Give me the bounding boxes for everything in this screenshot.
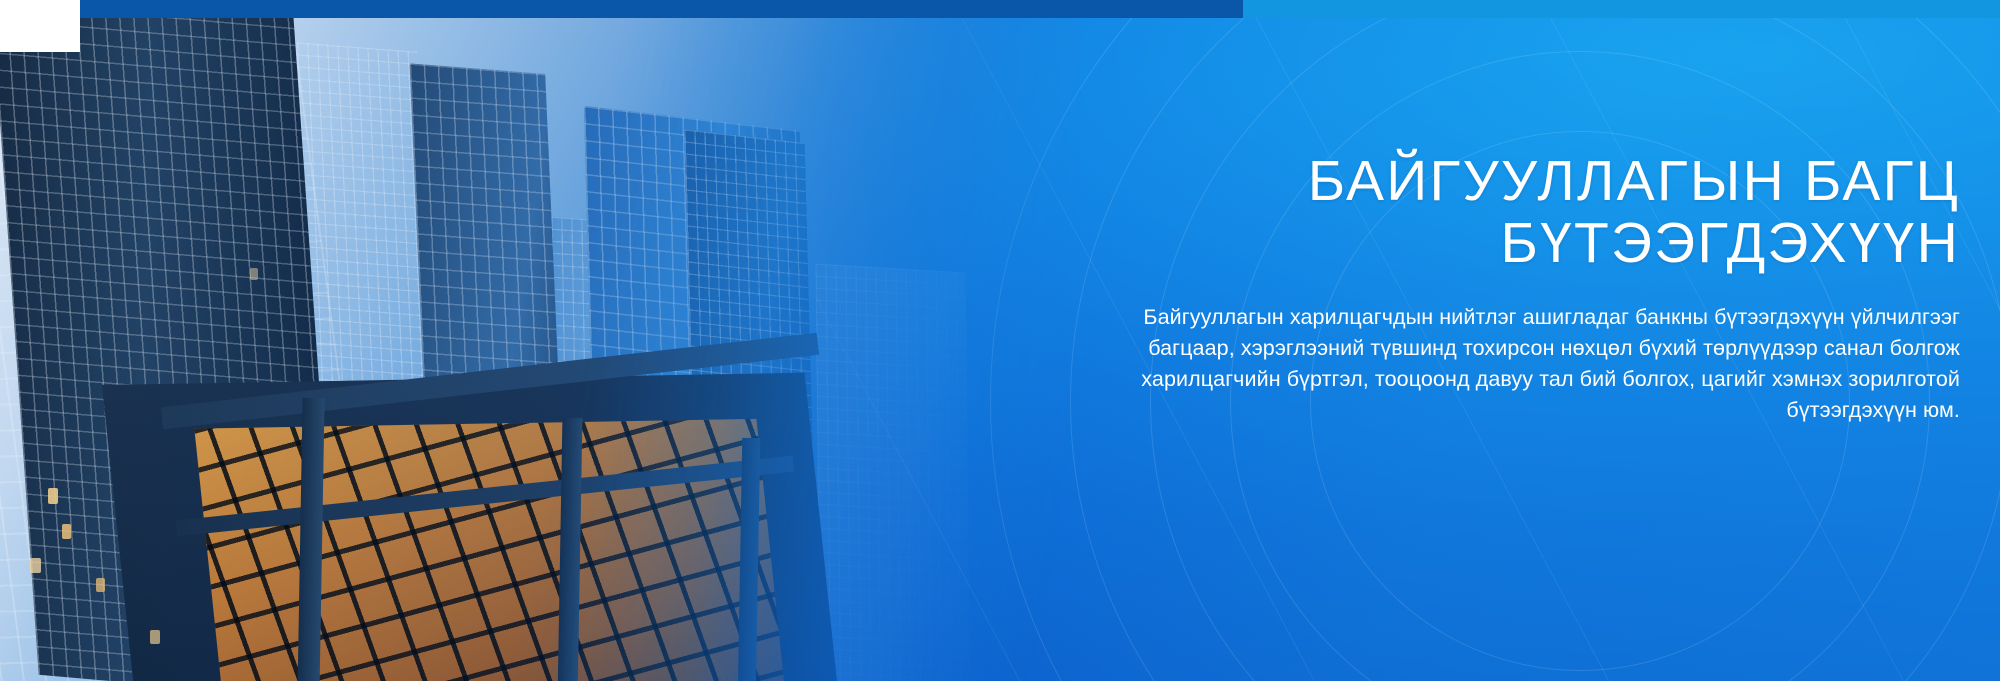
banner-text-block: БАЙГУУЛЛАГЫН БАГЦ БҮТЭЭГДЭХҮҮН Байгуулла… xyxy=(890,150,1960,426)
organization-package-banner: БАЙГУУЛЛАГЫН БАГЦ БҮТЭЭГДЭХҮҮН Байгуулла… xyxy=(0,0,2000,681)
top-cyan-strip xyxy=(1243,0,2000,18)
page-title: БАЙГУУЛЛАГЫН БАГЦ БҮТЭЭГДЭХҮҮН xyxy=(890,150,1960,274)
top-navy-strip xyxy=(243,0,1243,18)
banner-description: Байгууллагын харилцагчдын нийтлэг ашигла… xyxy=(890,302,1960,426)
top-left-white-corner xyxy=(0,0,80,52)
page-title-line-1: БАЙГУУЛЛАГЫН БАГЦ xyxy=(1308,149,1960,213)
page-title-line-2: БҮТЭЭГДЭХҮҮН xyxy=(890,212,1960,274)
